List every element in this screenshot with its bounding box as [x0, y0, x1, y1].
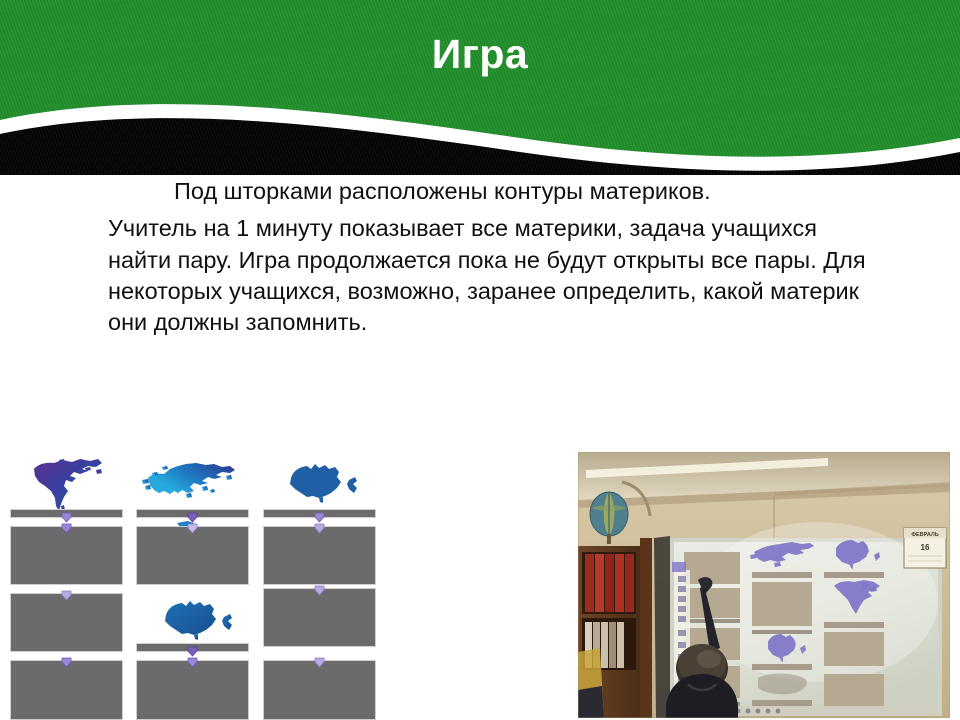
curtain-handle-icon[interactable]: [187, 523, 198, 534]
curtain-handle-icon[interactable]: [314, 585, 325, 596]
curtain-panel-r4c1[interactable]: [10, 660, 123, 720]
banner-green-shape: [0, 0, 960, 175]
game-cell-r4c2[interactable]: [136, 660, 249, 720]
game-cell-r3c3[interactable]: [263, 588, 376, 647]
curtain-panel-r3c1[interactable]: [10, 593, 123, 652]
curtain-handle-icon[interactable]: [61, 590, 72, 601]
game-cell-r4c3[interactable]: [263, 660, 376, 720]
curtain-panel-r2c1[interactable]: [10, 526, 123, 585]
calendar-day-number: 16: [921, 543, 930, 552]
curtain-handle-icon[interactable]: [314, 657, 325, 668]
curtain-panel-r4c2[interactable]: [136, 660, 249, 720]
curtain-panel-r2c2[interactable]: [136, 526, 249, 585]
game-cell-r1c1[interactable]: [10, 450, 123, 522]
calendar-month-label: ФЕВРАЛЬ: [911, 532, 938, 538]
page-title: Игра: [0, 32, 960, 77]
wall-calendar: ФЕВРАЛЬ 16: [904, 528, 946, 568]
curtain-game-grid: [0, 440, 380, 720]
curtain-panel-r4c3[interactable]: [263, 660, 376, 720]
curtain-handle-icon[interactable]: [61, 512, 72, 523]
north-america-map-icon: [28, 456, 106, 516]
curtain-handle-icon[interactable]: [314, 523, 325, 534]
body-paragraph-1: Под шторками расположены контуры материк…: [108, 176, 878, 207]
eurasia-map-icon: [140, 460, 240, 508]
curtain-handle-icon[interactable]: [187, 646, 198, 657]
classroom-photo: ФЕВРАЛЬ 16: [578, 452, 950, 718]
curtain-handle-icon[interactable]: [314, 512, 325, 523]
game-cell-r1c3[interactable]: [263, 450, 376, 522]
slide-body-text: Под шторками расположены контуры материк…: [108, 176, 878, 339]
curtain-bar-r1c1[interactable]: [10, 509, 123, 518]
game-cell-r1c2[interactable]: [136, 450, 249, 522]
curtain-panel-r2c3[interactable]: [263, 526, 376, 585]
game-cell-r2c3[interactable]: [263, 526, 376, 585]
australia-map-icon: [281, 458, 363, 510]
game-cell-r2c1[interactable]: [10, 526, 123, 585]
game-cell-r2c2[interactable]: [136, 526, 249, 585]
game-cell-r3c1[interactable]: [10, 593, 123, 652]
curtain-bar-r1c3[interactable]: [263, 509, 376, 518]
curtain-handle-icon[interactable]: [61, 657, 72, 668]
body-paragraph-2: Учитель на 1 минуту показывает все матер…: [108, 213, 878, 338]
curtain-panel-r3c3[interactable]: [263, 588, 376, 647]
slide-root: Игра Под шторками расположены контуры ма…: [0, 0, 960, 720]
header-banner: Игра: [0, 0, 960, 175]
game-cell-r4c1[interactable]: [10, 660, 123, 720]
curtain-handle-icon[interactable]: [61, 523, 72, 534]
curtain-bar-r3c2[interactable]: [136, 643, 249, 652]
game-cell-r3c2[interactable]: [136, 593, 249, 652]
australia-map-icon: [156, 595, 238, 647]
curtain-bar-r1c2[interactable]: [136, 509, 249, 518]
curtain-handle-icon[interactable]: [187, 657, 198, 668]
